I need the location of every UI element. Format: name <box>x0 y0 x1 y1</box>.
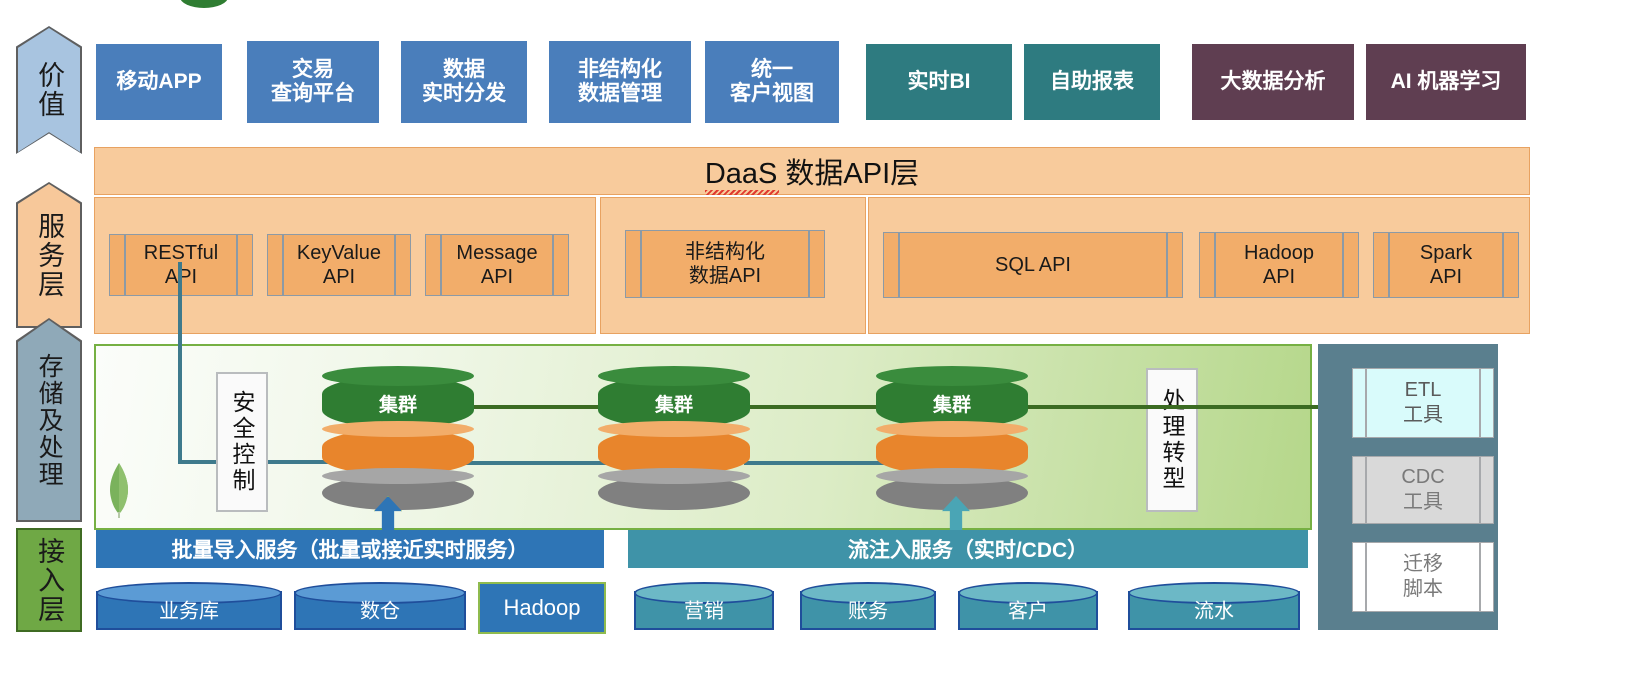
api-box-divider-left <box>440 235 442 295</box>
api-box-message[interactable]: Message API <box>425 234 569 296</box>
source-db-label: 流水 <box>1128 594 1300 623</box>
sidebar-label: 价值 <box>35 61 63 119</box>
cluster-label: 集群 <box>876 390 1028 417</box>
api-box-unstructured-data[interactable]: 非结构化 数据API <box>625 230 825 298</box>
process-transform-label: 处理转型 <box>1146 368 1198 512</box>
spellcheck-underline <box>705 190 779 195</box>
api-box-divider-left <box>640 231 642 297</box>
unstructured-api-group: 非结构化 数据API <box>600 197 866 334</box>
tool-divider-left <box>1365 543 1367 611</box>
sidebar-item-access-layer[interactable]: 接入层 <box>16 528 82 632</box>
structured-api-group: RESTful API KeyValue API Message API <box>94 197 596 334</box>
cluster-label: 集群 <box>598 390 750 417</box>
value-card-realtime-bi[interactable]: 实时BI <box>866 44 1012 120</box>
cluster-link-green-1 <box>466 405 616 409</box>
tool-divider-left <box>1365 457 1367 523</box>
api-box-divider-right <box>808 231 810 297</box>
tool-divider-right <box>1479 543 1481 611</box>
value-card-big-data-analysis[interactable]: 大数据分析 <box>1192 44 1354 120</box>
api-box-divider-right <box>1166 233 1168 297</box>
tool-etl[interactable]: ETL 工具 <box>1352 368 1494 438</box>
tool-divider-left <box>1365 369 1367 437</box>
cluster-cylinder-1[interactable]: 集群 <box>322 376 474 510</box>
daas-api-layer-bar[interactable]: DaaS 数据API层 <box>94 147 1530 195</box>
value-card-ai-machine-learning[interactable]: AI 机器学习 <box>1366 44 1526 120</box>
api-box-spark[interactable]: Spark API <box>1373 232 1519 298</box>
source-hadoop-box[interactable]: Hadoop <box>478 582 606 634</box>
batch-import-service-bar[interactable]: 批量导入服务（批量或接近实时服务） <box>96 530 604 568</box>
api-box-divider-left <box>282 235 284 295</box>
api-box-divider-right <box>1342 233 1344 297</box>
cluster-link-teal-1 <box>466 461 616 465</box>
cluster-band-gray <box>322 476 474 510</box>
value-card-data-realtime-dist[interactable]: 数据 实时分发 <box>401 41 527 123</box>
analytics-api-group: SQL API Hadoop API Spark API <box>868 197 1530 334</box>
tool-cdc[interactable]: CDC 工具 <box>1352 456 1494 524</box>
cluster-link-green-2 <box>744 405 894 409</box>
api-box-hadoop[interactable]: Hadoop API <box>1199 232 1359 298</box>
source-db-customer[interactable]: 客户 <box>958 582 1098 630</box>
cluster-cylinder-2[interactable]: 集群 <box>598 376 750 510</box>
cut-off-cluster-ellipse <box>180 0 228 8</box>
sidebar-item-storage-process-layer[interactable]: 存储及处理 <box>16 318 82 522</box>
cluster-link-teal-2 <box>744 461 894 465</box>
source-db-label: 客户 <box>958 594 1098 623</box>
source-db-label: 业务库 <box>96 594 282 623</box>
source-db-warehouse[interactable]: 数仓 <box>294 582 466 630</box>
value-card-self-service-report[interactable]: 自助报表 <box>1024 44 1160 120</box>
source-db-label: 营销 <box>634 594 774 623</box>
source-db-label: 账务 <box>800 594 936 623</box>
tool-migration-script[interactable]: 迁移 脚本 <box>1352 542 1494 612</box>
api-box-divider-right <box>552 235 554 295</box>
api-box-keyvalue[interactable]: KeyValue API <box>267 234 411 296</box>
cluster-band-gray <box>598 476 750 510</box>
sidebar-label: 存储及处理 <box>36 353 62 488</box>
tool-divider-right <box>1479 457 1481 523</box>
api-box-divider-left <box>124 235 126 295</box>
source-db-accounting[interactable]: 账务 <box>800 582 936 630</box>
source-db-transaction[interactable]: 流水 <box>1128 582 1300 630</box>
value-card-unstructured-mgmt[interactable]: 非结构化 数据管理 <box>549 41 691 123</box>
stream-ingest-service-bar[interactable]: 流注入服务（实时/CDC） <box>628 530 1308 568</box>
source-db-label: 数仓 <box>294 594 466 623</box>
cluster-label: 集群 <box>322 390 474 417</box>
sidebar-label: 接入层 <box>35 537 63 624</box>
value-card-trade-query[interactable]: 交易 查询平台 <box>247 41 379 123</box>
value-card-mobile-app[interactable]: 移动APP <box>96 44 222 120</box>
api-box-divider-left <box>1388 233 1390 297</box>
sidebar-item-value-layer[interactable]: 价值 <box>16 26 82 154</box>
daas-title: DaaS 数据API层 <box>705 150 919 192</box>
cluster-cylinder-3[interactable]: 集群 <box>876 376 1028 510</box>
api-box-divider-right <box>394 235 396 295</box>
tool-divider-right <box>1479 369 1481 437</box>
restful-api-connector-vertical <box>178 262 182 464</box>
api-box-divider-left <box>1214 233 1216 297</box>
sidebar-label: 服务层 <box>35 212 63 299</box>
source-db-business[interactable]: 业务库 <box>96 582 282 630</box>
api-box-sql[interactable]: SQL API <box>883 232 1183 298</box>
security-control-label: 安全控制 <box>216 372 268 512</box>
api-box-divider-left <box>898 233 900 297</box>
api-box-divider-right <box>236 235 238 295</box>
source-db-marketing[interactable]: 营销 <box>634 582 774 630</box>
cluster-link-green-3 <box>1022 405 1352 409</box>
value-card-unified-customer-view[interactable]: 统一 客户视图 <box>705 41 839 123</box>
mongodb-leaf-icon <box>106 462 132 518</box>
sidebar-item-service-layer[interactable]: 服务层 <box>16 182 82 328</box>
api-box-divider-right <box>1502 233 1504 297</box>
